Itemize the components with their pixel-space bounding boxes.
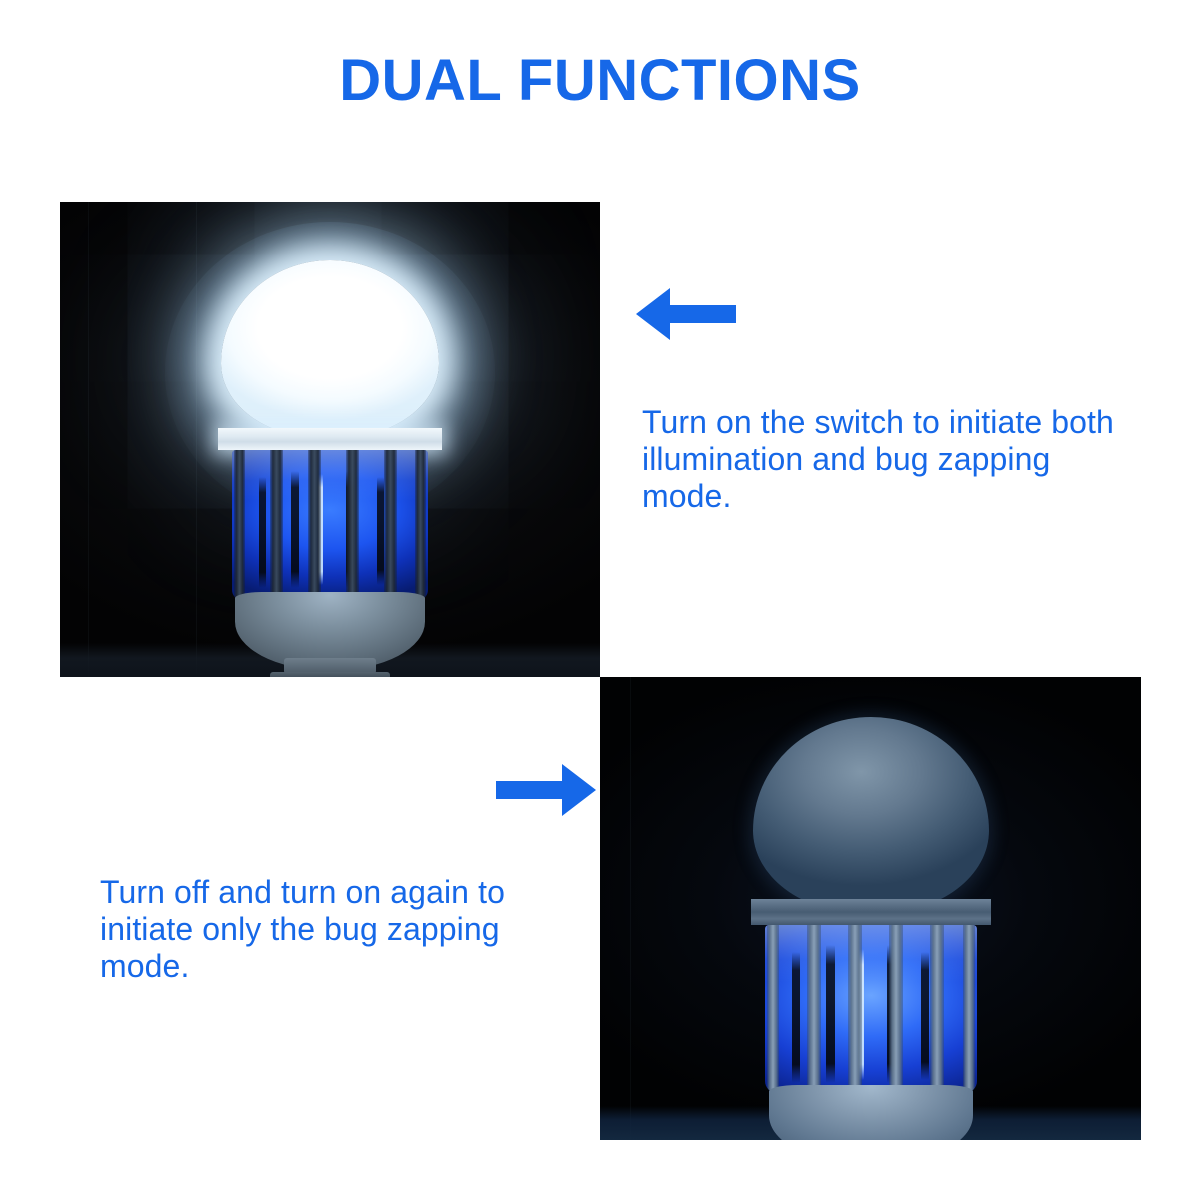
cage-rib [807,925,821,1093]
zapper-coil [377,477,384,585]
bulb-base [270,672,390,677]
page-title: DUAL FUNCTIONS [0,50,1200,112]
caption-zapping-only: Turn off and turn on again to initiate o… [100,874,570,985]
cage-rib [889,925,903,1093]
zapper-coil [259,477,266,588]
infographic-page: DUAL FUNCTIONS [0,0,1200,1200]
backdrop-seam [630,677,631,1140]
caption-illumination-on: Turn on the switch to initiate both illu… [642,404,1142,515]
uv-zapper-cage [232,450,428,600]
zapper-coil [921,952,929,1080]
backdrop-seam [88,202,89,677]
cage-rib [963,925,975,1093]
cage-rib [415,450,426,600]
arrow-right-icon [492,764,596,816]
bulb-collar [751,899,991,925]
zapper-coil [792,952,800,1083]
cage-rib [308,450,321,600]
product-photo-illumination-on [60,202,600,677]
cage-rib [346,450,359,600]
arrow-left-icon [636,288,740,340]
bulb-zapping-only [747,717,995,1137]
bulb-collar [218,428,442,450]
bulb-skirt [769,1085,973,1140]
cage-rib [767,925,779,1093]
cage-rib [384,450,397,600]
product-photo-zapping-only [600,677,1141,1140]
cage-rib [930,925,944,1093]
cage-rib [848,925,862,1093]
cage-rib [270,450,283,600]
bulb-dome-lit [221,260,439,438]
cage-rib [234,450,245,600]
bulb-illuminated [214,260,446,670]
uv-zapper-cage [765,925,977,1093]
zapper-coil [826,945,835,1083]
zapper-coil [291,471,299,588]
bulb-dome-unlit [753,717,989,913]
backdrop-seam [196,202,197,677]
